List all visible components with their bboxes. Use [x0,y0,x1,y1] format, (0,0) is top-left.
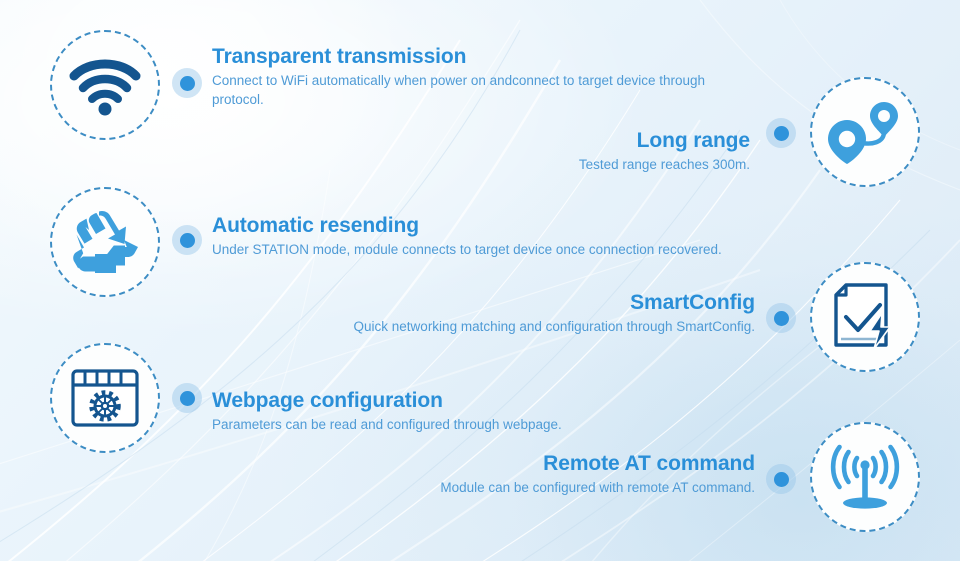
feature-icon-webpage-configuration [50,343,160,453]
antenna-tower-icon [829,444,901,510]
recycle-icon [72,210,138,274]
feature-icon-smartconfig [810,262,920,372]
feature-title: SmartConfig [250,291,755,315]
feature-text-smartconfig: SmartConfig Quick networking matching an… [250,291,755,336]
feature-text-webpage-configuration: Webpage configuration Parameters can be … [212,389,772,434]
feature-icon-automatic-resending [50,187,160,297]
feature-title: Remote AT command [340,452,755,476]
browser-gear-icon [70,368,140,428]
feature-title: Transparent transmission [212,45,712,69]
bullet-webpage-configuration [172,383,202,413]
wifi-icon [69,54,141,116]
bullet-remote-at-command [766,464,796,494]
bullet-long-range [766,118,796,148]
feature-icon-remote-at-command [810,422,920,532]
feature-icon-long-range [810,77,920,187]
feature-text-remote-at-command: Remote AT command Module can be configur… [340,452,755,497]
bullet-transparent-transmission [172,68,202,98]
feature-icon-transparent-transmission [50,30,160,140]
bullet-automatic-resending [172,225,202,255]
feature-description: Under STATION mode, module connects to t… [212,240,852,259]
feature-description: Module can be configured with remote AT … [340,478,755,497]
feature-title: Automatic resending [212,214,852,238]
bullet-smartconfig [766,303,796,333]
infographic-canvas: Transparent transmission Connect to WiFi… [0,0,960,561]
feature-description: Tested range reaches 300m. [330,155,750,174]
feature-text-long-range: Long range Tested range reaches 300m. [330,129,750,174]
feature-description: Quick networking matching and configurat… [250,317,755,336]
feature-title: Long range [330,129,750,153]
map-route-icon [828,100,902,164]
feature-title: Webpage configuration [212,389,772,413]
feature-description: Connect to WiFi automatically when power… [212,71,712,109]
feature-description: Parameters can be read and configured th… [212,415,772,434]
document-check-bolt-icon [832,283,898,351]
feature-text-transparent-transmission: Transparent transmission Connect to WiFi… [212,45,712,109]
feature-text-automatic-resending: Automatic resending Under STATION mode, … [212,214,852,259]
